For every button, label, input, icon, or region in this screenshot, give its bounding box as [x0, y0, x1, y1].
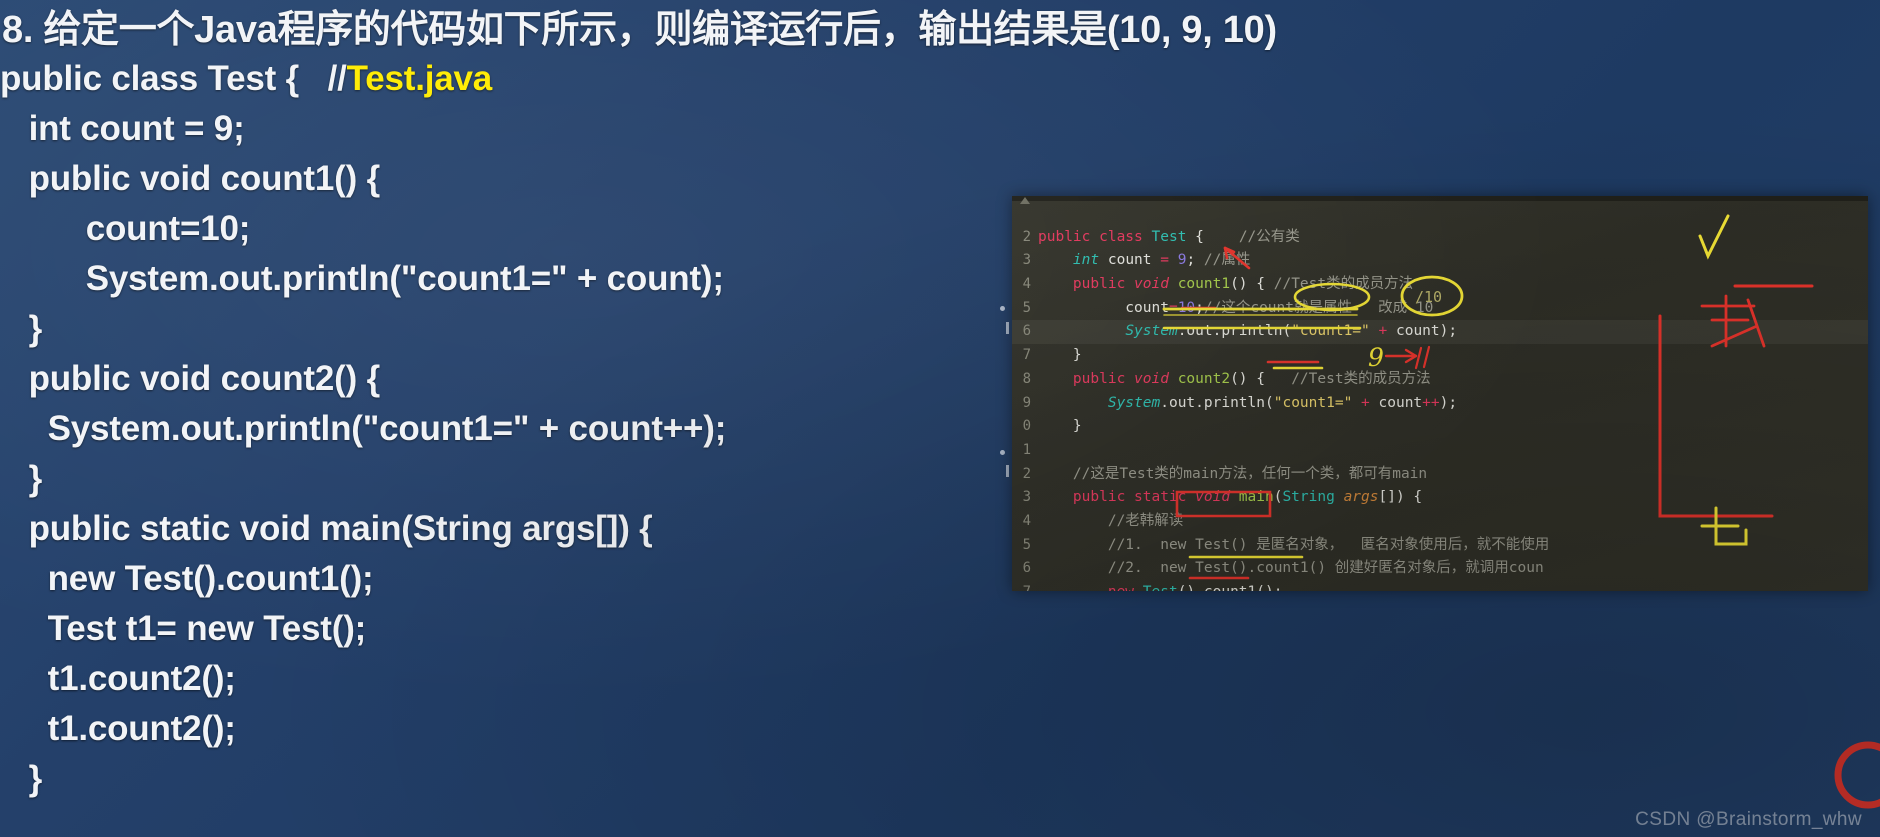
line-number: 3: [1012, 249, 1038, 273]
filename-highlight: Test.java: [347, 59, 492, 98]
line-number: 4: [1012, 510, 1038, 534]
ide-row[interactable]: 9 System.out.println("count1=" + count++…: [1012, 392, 1868, 416]
line-code: }: [1038, 344, 1868, 368]
line-code: count=10;//这个count就是属性 改成 10: [1038, 297, 1868, 321]
line-number: 2: [1012, 463, 1038, 487]
line-number: 7: [1012, 344, 1038, 368]
ide-row[interactable]: 4 //老韩解读: [1012, 510, 1868, 534]
line-code: public static void main(String args[]) {: [1038, 486, 1868, 510]
line-code: //2. new Test().count1() 创建好匿名对象后，就调用cou…: [1038, 557, 1868, 581]
line-number: 6: [1012, 557, 1038, 581]
code-text: public class Test { //: [0, 59, 347, 98]
ide-row-current[interactable]: 6 System.out.println("count1=" + count);: [1012, 320, 1868, 344]
line-number: 7: [1012, 581, 1038, 591]
ide-top-edge: [1012, 196, 1868, 201]
line-code: }: [1038, 415, 1868, 439]
code-line-t1-count2-b: t1.count2();: [0, 704, 1880, 754]
page-title: 8. 给定一个Java程序的代码如下所示，则编译运行后，输出结果是(10, 9,…: [0, 6, 1880, 54]
line-number: 6: [1012, 320, 1038, 344]
ide-row[interactable]: 1: [1012, 439, 1868, 463]
line-code: int count = 9; //属性: [1038, 249, 1868, 273]
code-line-class-decl: public class Test { //Test.java: [0, 54, 1880, 104]
ide-screenshot-panel: 2 public class Test { //公有类 3 int count …: [1012, 196, 1868, 591]
ide-row[interactable]: 5 count=10;//这个count就是属性 改成 10: [1012, 297, 1868, 321]
screen-reflection-artifacts: [1000, 260, 1010, 580]
code-line-t1-new-test: Test t1= new Test();: [0, 604, 1880, 654]
line-code: //这是Test类的main方法，任何一个类，都可有main: [1038, 463, 1868, 487]
line-number: 4: [1012, 273, 1038, 297]
ide-row: [1012, 202, 1868, 226]
ide-row[interactable]: 7 }: [1012, 344, 1868, 368]
ide-code-rows: 2 public class Test { //公有类 3 int count …: [1012, 202, 1868, 591]
ide-row[interactable]: 8 public void count2() { //Test类的成员方法: [1012, 368, 1868, 392]
line-number: 1: [1012, 439, 1038, 463]
ide-row[interactable]: 3 int count = 9; //属性: [1012, 249, 1868, 273]
line-number: 5: [1012, 534, 1038, 558]
presentation-slide: 8. 给定一个Java程序的代码如下所示，则编译运行后，输出结果是(10, 9,…: [0, 0, 1880, 837]
ide-row[interactable]: 2 //这是Test类的main方法，任何一个类，都可有main: [1012, 463, 1868, 487]
line-number: 3: [1012, 486, 1038, 510]
line-code: System.out.println("count1=" + count++);: [1038, 392, 1868, 416]
ide-row[interactable]: 6 //2. new Test().count1() 创建好匿名对象后，就调用c…: [1012, 557, 1868, 581]
ide-row[interactable]: 4 public void count1() { //Test类的成员方法: [1012, 273, 1868, 297]
line-code: public void count1() { //Test类的成员方法: [1038, 273, 1868, 297]
line-number: 9: [1012, 392, 1038, 416]
line-code: [1038, 439, 1868, 463]
ide-row[interactable]: 2 public class Test { //公有类: [1012, 226, 1868, 250]
line-code: new Test().count1();: [1038, 581, 1868, 591]
ide-row[interactable]: 7 new Test().count1();: [1012, 581, 1868, 591]
code-line-field: int count = 9;: [0, 104, 1880, 154]
line-code: //老韩解读: [1038, 510, 1868, 534]
line-number: 5: [1012, 297, 1038, 321]
line-code: public void count2() { //Test类的成员方法: [1038, 368, 1868, 392]
line-number: 2: [1012, 226, 1038, 250]
line-number: [1012, 202, 1038, 226]
line-code: System.out.println("count1=" + count);: [1038, 320, 1868, 344]
line-code: //1. new Test() 是匿名对象， 匿名对象使用后，就不能使用: [1038, 534, 1868, 558]
code-line-t1-count2-a: t1.count2();: [0, 654, 1880, 704]
line-number: 8: [1012, 368, 1038, 392]
code-line-close-brace-3: }: [0, 754, 1880, 804]
line-code: [1038, 202, 1868, 226]
line-code: public class Test { //公有类: [1038, 226, 1868, 250]
line-number: 0: [1012, 415, 1038, 439]
watermark: CSDN @Brainstorm_whw: [1635, 809, 1862, 831]
ide-row[interactable]: 3 public static void main(String args[])…: [1012, 486, 1868, 510]
ide-row[interactable]: 5 //1. new Test() 是匿名对象， 匿名对象使用后，就不能使用: [1012, 534, 1868, 558]
ide-row[interactable]: 0 }: [1012, 415, 1868, 439]
